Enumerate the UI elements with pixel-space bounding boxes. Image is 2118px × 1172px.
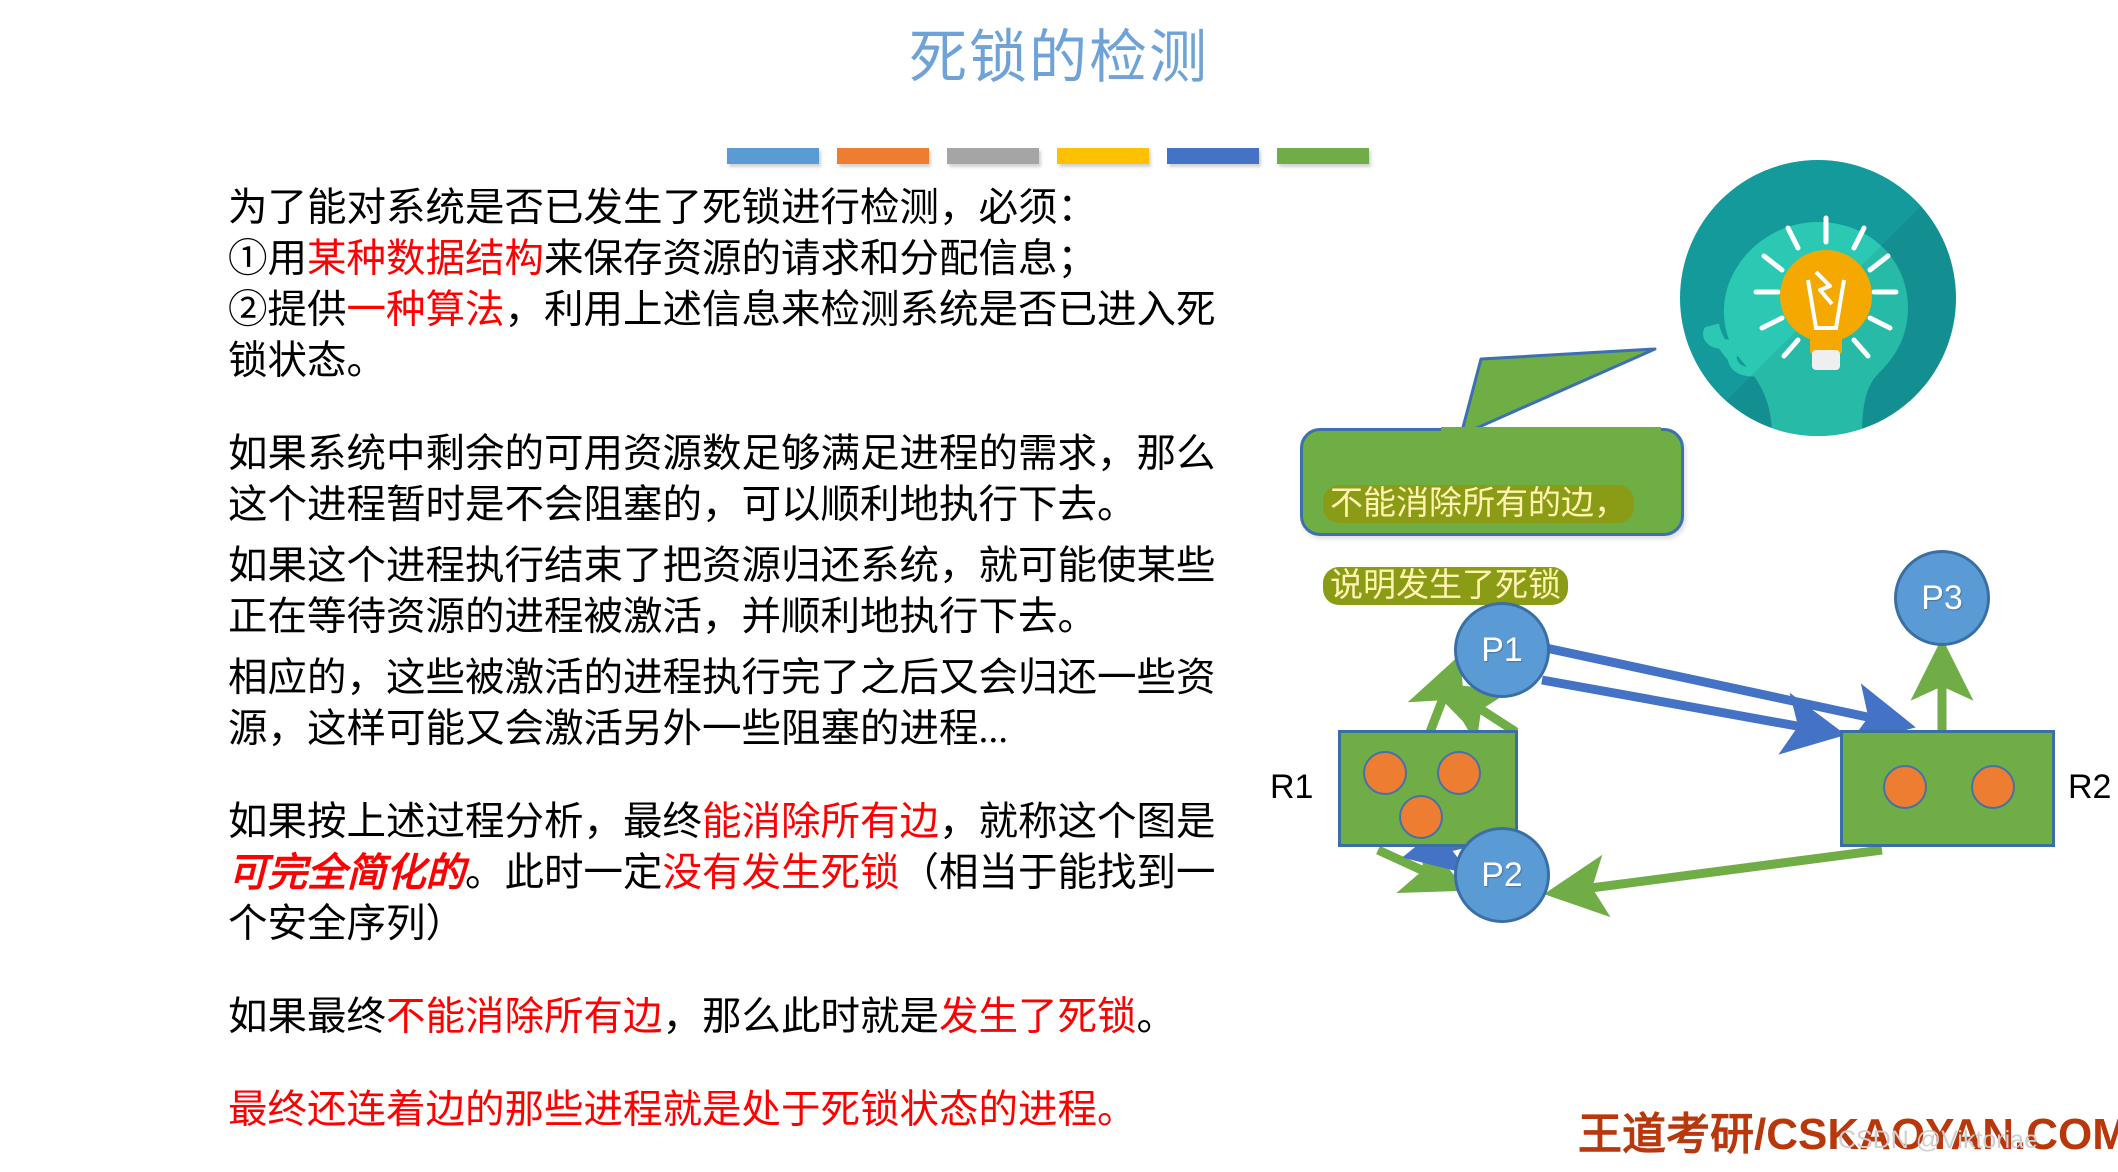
intro-line-2-highlight: 某种数据结构 (307, 237, 544, 281)
edge-r2-p2 (1560, 850, 1882, 892)
spacer-6 (228, 1043, 1238, 1085)
edge-p1-r2-b (1542, 680, 1830, 732)
intro-line-2-suffix: 来保存资源的请求和分配信息； (544, 237, 1097, 281)
accent-bar-yellow (1057, 148, 1149, 164)
spacer-2 (228, 531, 1238, 541)
resource-node-r2[interactable] (1840, 730, 2055, 847)
reducible-emphasis: 可完全简化的 (228, 851, 465, 895)
slide-body-text: 为了能对系统是否已发生了死锁进行检测，必须： ①用某种数据结构来保存资源的请求和… (228, 183, 1238, 1136)
intro-line-3-highlight: 一种算法 (347, 288, 505, 332)
process-label-p1: P1 (1481, 631, 1523, 670)
paragraph-release-resources: 如果这个进程执行结束了把资源归还系统，就可能使某些正在等待资源的进程被激活，并顺… (228, 541, 1238, 643)
accent-bar-orange (837, 148, 929, 164)
accent-bar-blue (727, 148, 819, 164)
deadlock-prefix: 如果最终 (228, 995, 386, 1039)
deadlock-highlight-2: 发生了死锁 (939, 995, 1137, 1039)
head-lightbulb-icon (1680, 160, 1956, 436)
instance-dot (1437, 751, 1481, 795)
accent-bar-navy (1167, 148, 1259, 164)
resource-label-r1: R1 (1270, 768, 1313, 807)
paragraph-intro: 为了能对系统是否已发生了死锁进行检测，必须： ①用某种数据结构来保存资源的请求和… (228, 183, 1238, 387)
accent-bar-green (1277, 148, 1369, 164)
intro-line-2-prefix: ①用 (228, 237, 307, 281)
spacer-1 (228, 387, 1238, 429)
paragraph-cascade: 相应的，这些被激活的进程执行完了之后又会归还一些资源，这样可能又会激活另外一些阻… (228, 653, 1238, 755)
footer-watermark: CSDN @Viktoriae (1838, 1126, 2038, 1155)
instance-dot (1883, 765, 1927, 809)
lightbulb-icon (1680, 160, 1956, 436)
spacer-4 (228, 755, 1238, 797)
accent-bar-gray (947, 148, 1039, 164)
intro-line-1-text: 为了能对系统是否已发生了死锁进行检测，必须： (228, 186, 1097, 230)
reducible-mid-2: 。此时一定 (465, 851, 663, 895)
instance-dot (1399, 795, 1443, 839)
instance-dot (1971, 765, 2015, 809)
intro-line-2: ①用某种数据结构来保存资源的请求和分配信息； (228, 234, 1238, 285)
slide-canvas: 死锁的检测 为了能对系统是否已发生了死锁进行检测，必须： ①用某种数据结构来保存… (0, 0, 2118, 1172)
intro-line-1: 为了能对系统是否已发生了死锁进行检测，必须： (228, 183, 1238, 234)
bubble-line-1: 不能消除所有的边， (1323, 485, 1634, 523)
intro-line-3-prefix: ②提供 (228, 288, 347, 332)
deadlock-highlight-1: 不能消除所有边 (386, 995, 663, 1039)
spacer-3 (228, 643, 1238, 653)
reducible-prefix: 如果按上述过程分析，最终 (228, 800, 702, 844)
resource-label-r2: R2 (2068, 768, 2111, 807)
reducible-highlight-2: 没有发生死锁 (663, 851, 900, 895)
speech-bubble-tail-icon (1441, 347, 1661, 437)
process-label-p2: P2 (1481, 856, 1523, 895)
paragraph-deadlock: 如果最终不能消除所有边，那么此时就是发生了死锁。 (228, 992, 1238, 1043)
edge-r1-p1-b (1454, 692, 1516, 732)
intro-line-3: ②提供一种算法，利用上述信息来检测系统是否已进入死锁状态。 (228, 285, 1238, 387)
process-node-p3[interactable]: P3 (1894, 550, 1990, 646)
reducible-mid-1: ，就称这个图是 (939, 800, 1216, 844)
deadlock-mid: ，那么此时就是 (663, 995, 940, 1039)
icon-disc (1680, 160, 1956, 436)
deadlock-suffix: 。 (1137, 995, 1177, 1039)
rag-edges (1270, 520, 2118, 920)
resource-allocation-graph: R1 R2 P1 P2 P3 (1270, 520, 2118, 920)
process-node-p2[interactable]: P2 (1454, 827, 1550, 923)
edge-r1-p2 (1378, 850, 1452, 884)
reducible-highlight-1: 能消除所有边 (702, 800, 939, 844)
spacer-5 (228, 950, 1238, 992)
accent-bar-group (727, 148, 1369, 164)
instance-dot (1363, 751, 1407, 795)
edge-r1-p1-a (1430, 670, 1454, 732)
paragraph-available-resources: 如果系统中剩余的可用资源数足够满足进程的需求，那么这个进程暂时是不会阻塞的，可以… (228, 429, 1238, 531)
page-title: 死锁的检测 (0, 28, 2118, 89)
process-node-p1[interactable]: P1 (1454, 602, 1550, 698)
paragraph-reducible: 如果按上述过程分析，最终能消除所有边，就称这个图是可完全简化的。此时一定没有发生… (228, 797, 1238, 950)
paragraph-conclusion: 最终还连着边的那些进程就是处于死锁状态的进程。 (228, 1085, 1238, 1136)
process-label-p3: P3 (1921, 579, 1963, 618)
